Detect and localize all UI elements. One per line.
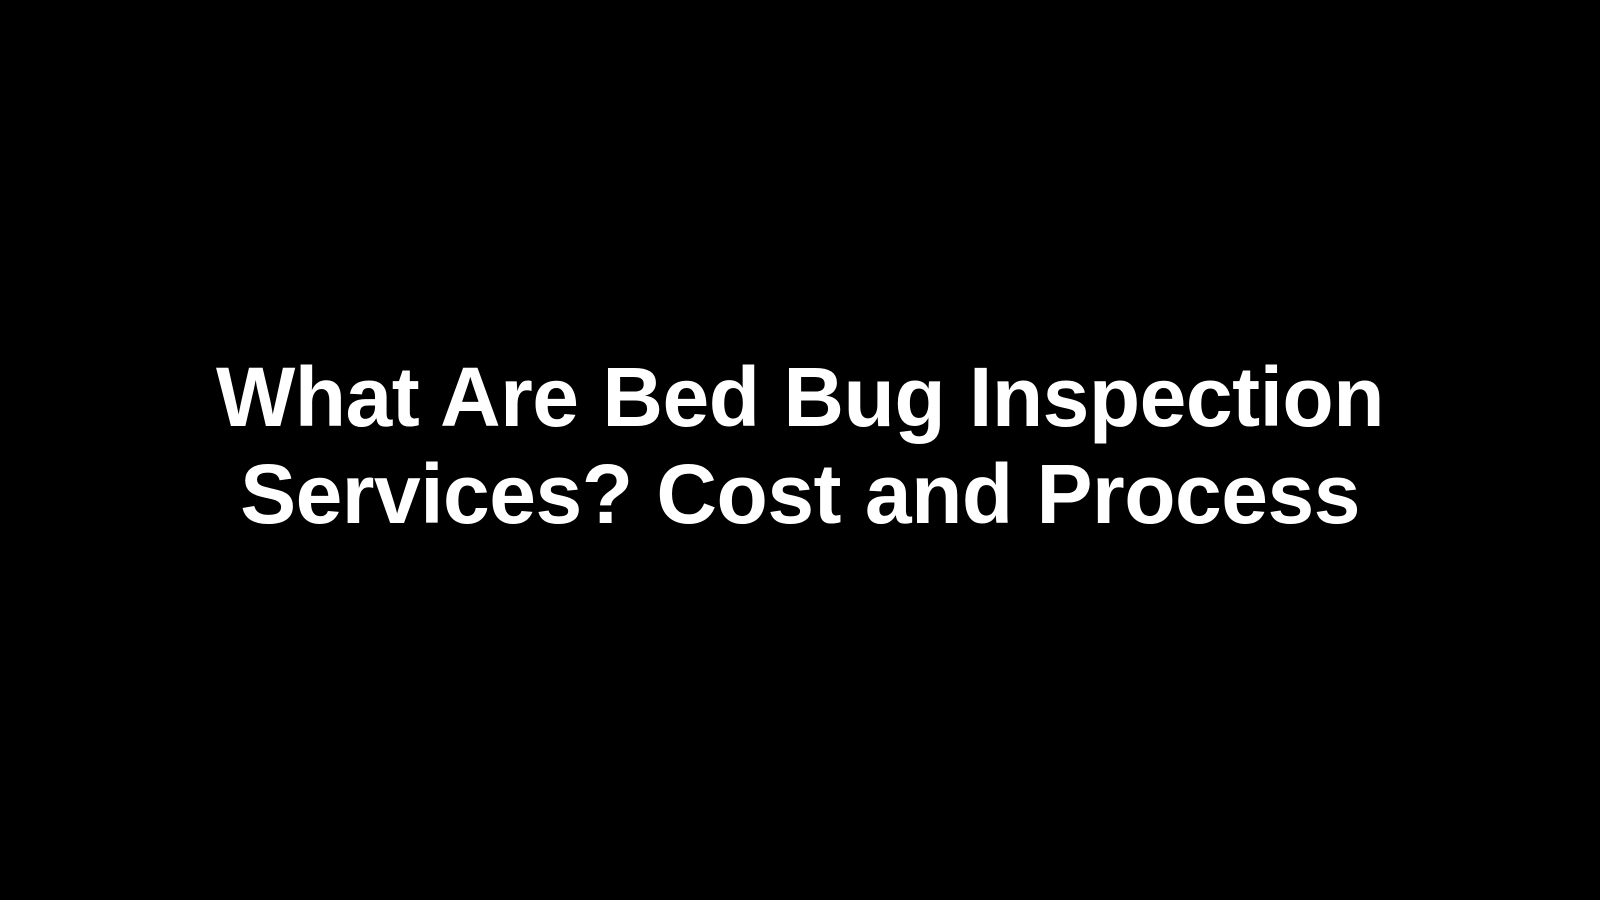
page-title: What Are Bed Bug Inspection Services? Co…: [180, 349, 1420, 543]
title-card: What Are Bed Bug Inspection Services? Co…: [0, 0, 1600, 900]
title-block: What Are Bed Bug Inspection Services? Co…: [180, 349, 1420, 543]
